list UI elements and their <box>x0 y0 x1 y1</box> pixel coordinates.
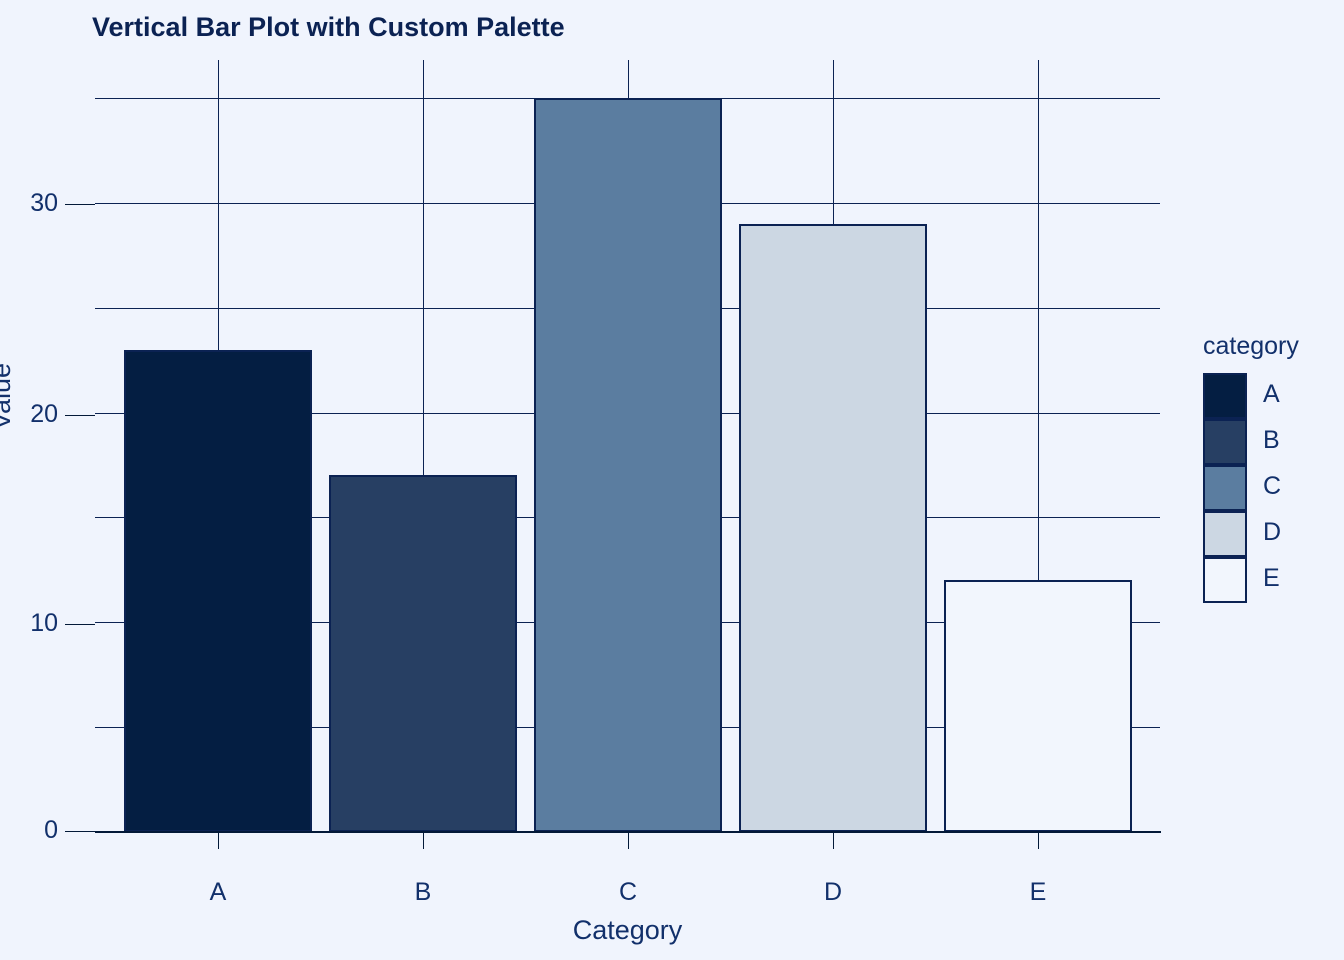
y-tick-label-30: 30 <box>24 189 58 218</box>
y-tick-0 <box>65 831 95 832</box>
legend-swatch-c <box>1203 465 1247 511</box>
chart-title: Vertical Bar Plot with Custom Palette <box>92 12 565 43</box>
bar-e[interactable] <box>944 580 1132 832</box>
bar-a[interactable] <box>124 350 312 832</box>
y-tick-30 <box>65 204 95 205</box>
bar-b[interactable] <box>329 475 517 832</box>
legend-label-e: E <box>1263 564 1280 593</box>
x-tick-label-e: E <box>998 878 1078 907</box>
legend-title: category <box>1203 332 1299 361</box>
y-tick-20 <box>65 415 95 416</box>
x-axis-title: Category <box>0 915 1255 946</box>
x-tick-label-c: C <box>588 878 668 907</box>
y-axis-title: Value <box>0 363 17 430</box>
bar-c[interactable] <box>534 98 722 832</box>
x-tick-label-a: A <box>178 878 258 907</box>
x-tick-d <box>833 832 834 849</box>
y-tick-10 <box>65 624 95 625</box>
x-tick-a <box>218 832 219 849</box>
legend-label-a: A <box>1263 380 1280 409</box>
x-tick-label-d: D <box>793 878 873 907</box>
x-tick-e <box>1038 832 1039 849</box>
legend-swatch-a <box>1203 373 1247 419</box>
chart-figure: Vertical Bar Plot with Custom Palette 30… <box>0 0 1344 960</box>
x-tick-c <box>628 832 629 849</box>
bar-d[interactable] <box>739 224 927 832</box>
legend-label-d: D <box>1263 518 1281 547</box>
legend-label-c: C <box>1263 472 1281 501</box>
y-tick-label-0: 0 <box>24 816 58 845</box>
y-tick-label-10: 10 <box>24 609 58 638</box>
y-tick-label-20: 20 <box>24 400 58 429</box>
legend-swatch-d <box>1203 511 1247 557</box>
legend-label-b: B <box>1263 426 1280 455</box>
x-tick-label-b: B <box>383 878 463 907</box>
legend-swatch-e <box>1203 557 1247 603</box>
legend-swatch-b <box>1203 419 1247 465</box>
x-tick-b <box>423 832 424 849</box>
